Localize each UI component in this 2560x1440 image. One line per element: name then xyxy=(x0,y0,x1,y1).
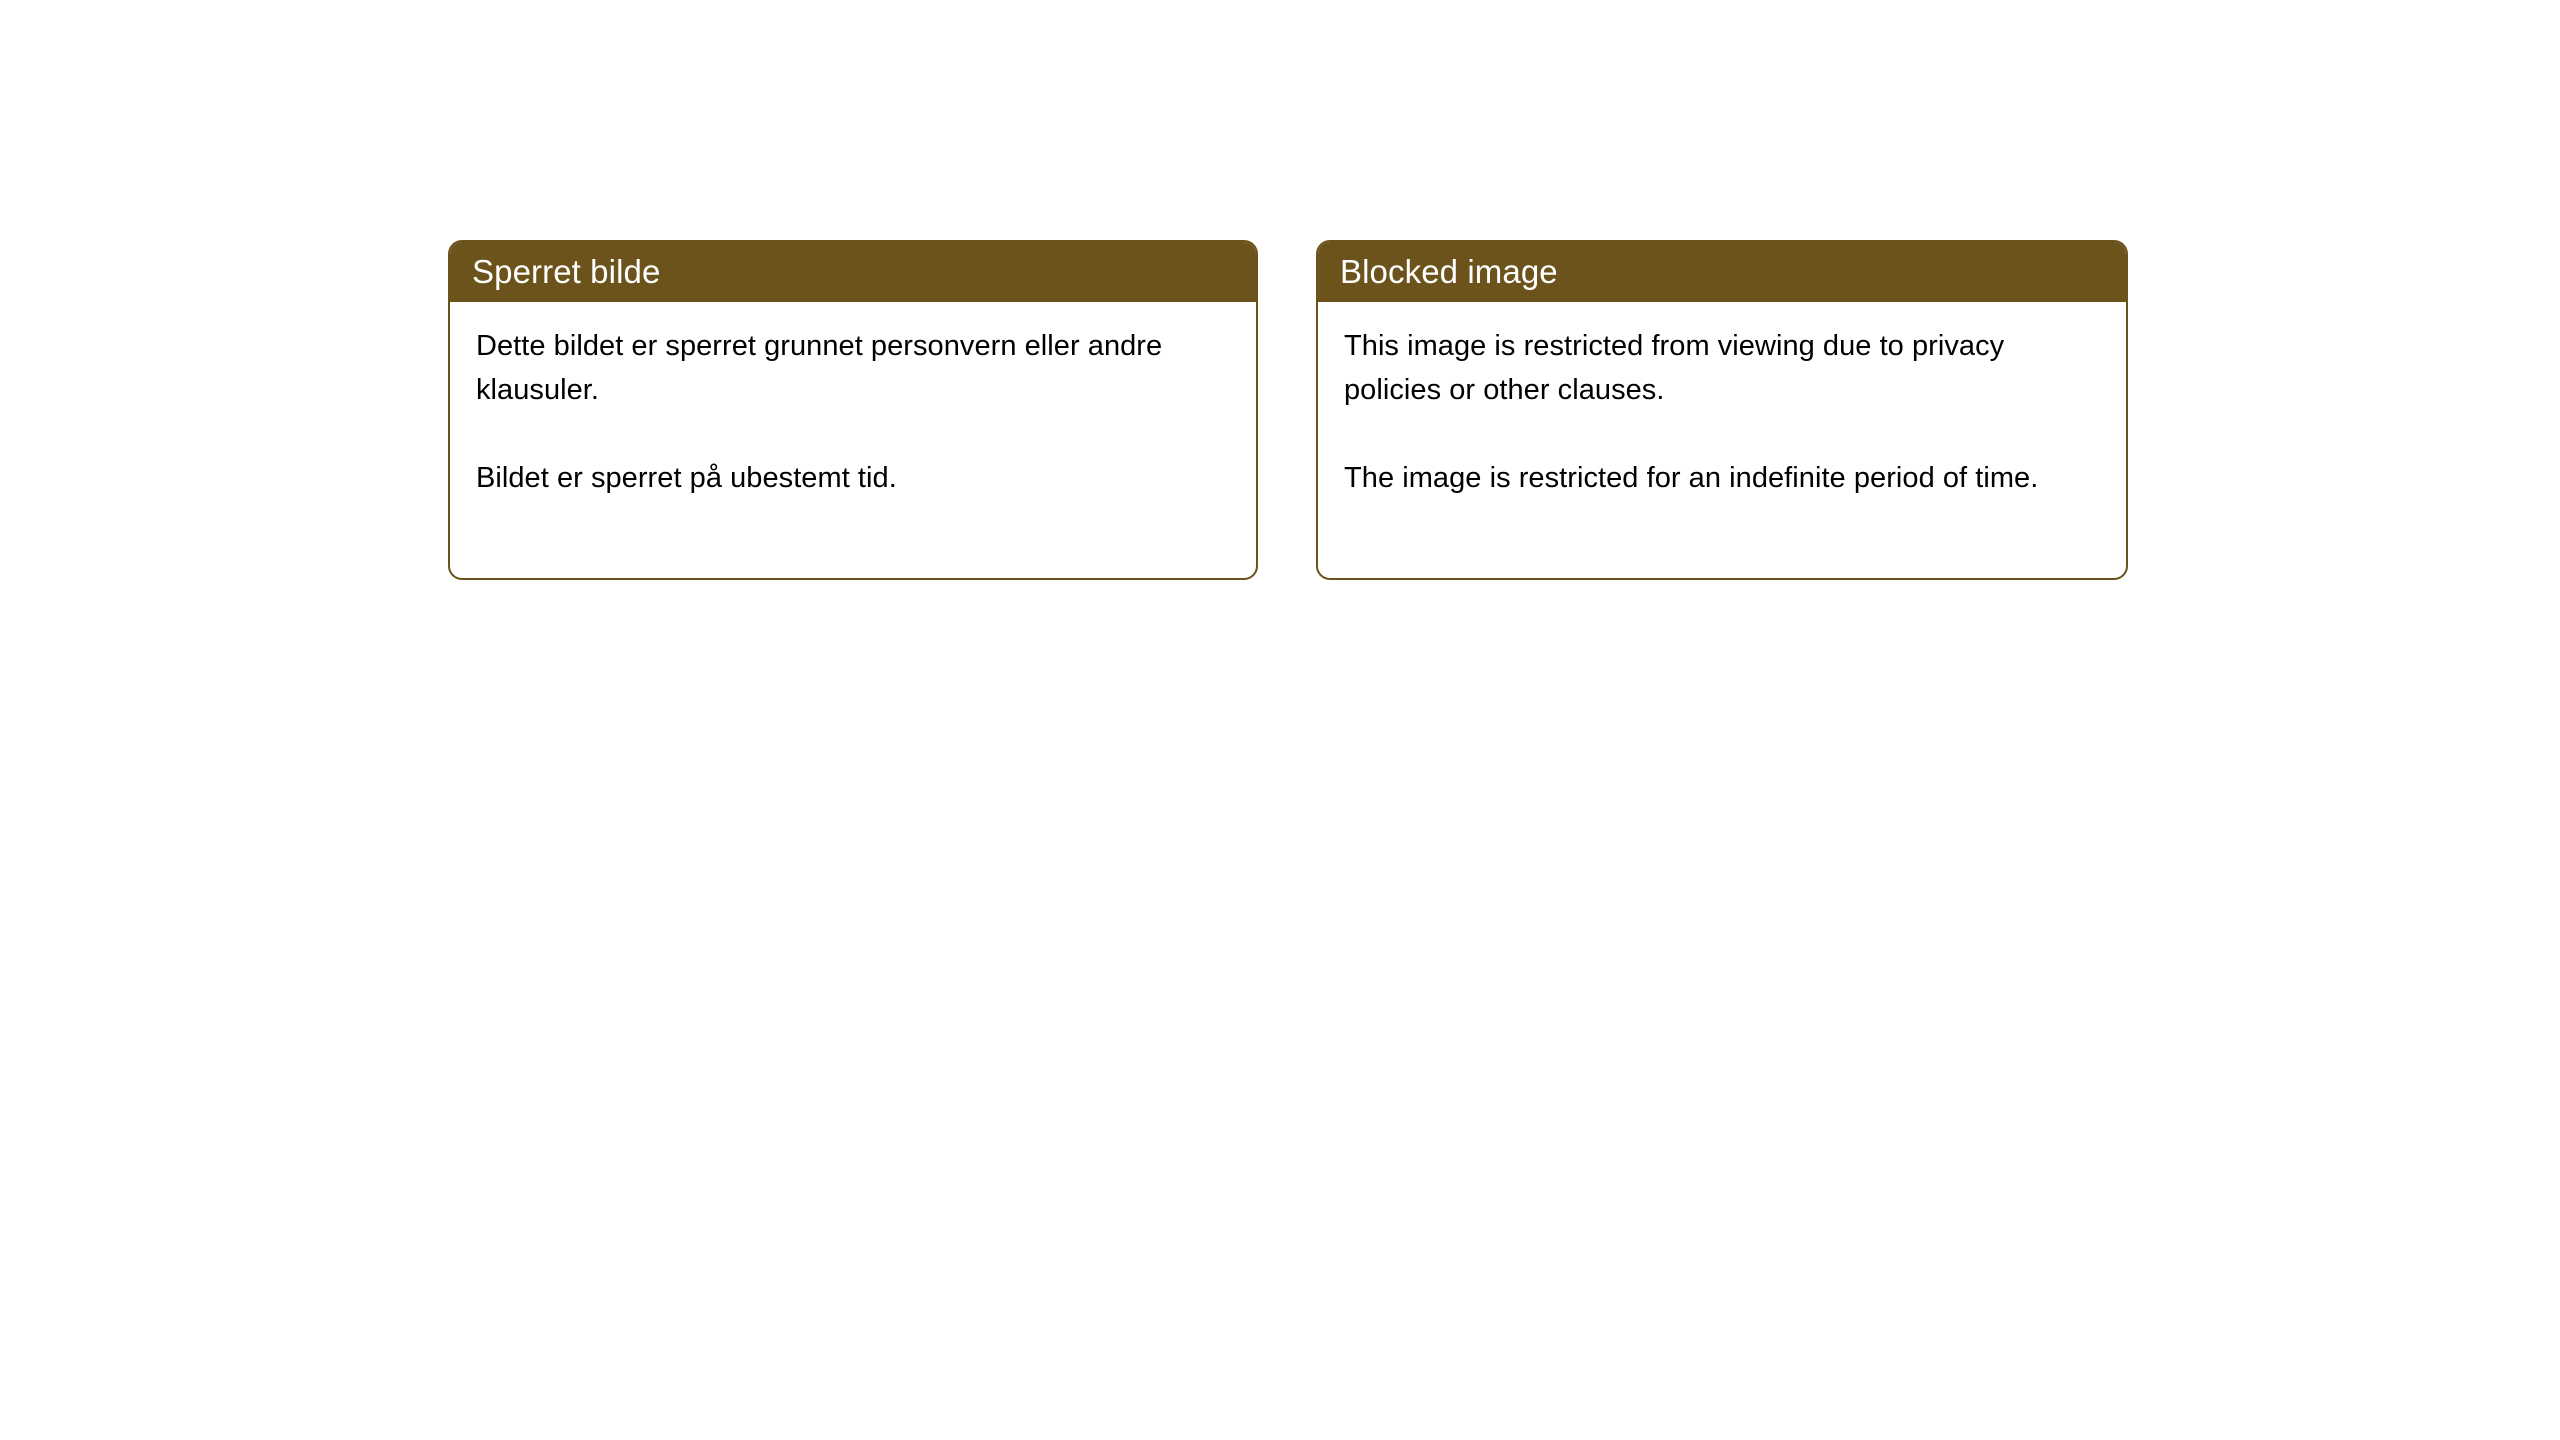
card-paragraph-primary-english: This image is restricted from viewing du… xyxy=(1344,324,2064,412)
card-body-english: This image is restricted from viewing du… xyxy=(1318,302,2126,500)
card-title-norwegian: Sperret bilde xyxy=(472,255,660,288)
card-body-norwegian: Dette bildet er sperret grunnet personve… xyxy=(450,302,1256,500)
blocked-image-card-norwegian: Sperret bilde Dette bildet er sperret gr… xyxy=(448,240,1258,580)
card-header-english: Blocked image xyxy=(1316,240,2128,302)
card-paragraph-secondary-norwegian: Bildet er sperret på ubestemt tid. xyxy=(476,456,1196,500)
card-title-english: Blocked image xyxy=(1340,255,1558,288)
card-paragraph-primary-norwegian: Dette bildet er sperret grunnet personve… xyxy=(476,324,1196,412)
blocked-image-card-english: Blocked image This image is restricted f… xyxy=(1316,240,2128,580)
card-paragraph-secondary-english: The image is restricted for an indefinit… xyxy=(1344,456,2064,500)
card-header-norwegian: Sperret bilde xyxy=(448,240,1258,302)
page-root: Sperret bilde Dette bildet er sperret gr… xyxy=(0,0,2560,1440)
